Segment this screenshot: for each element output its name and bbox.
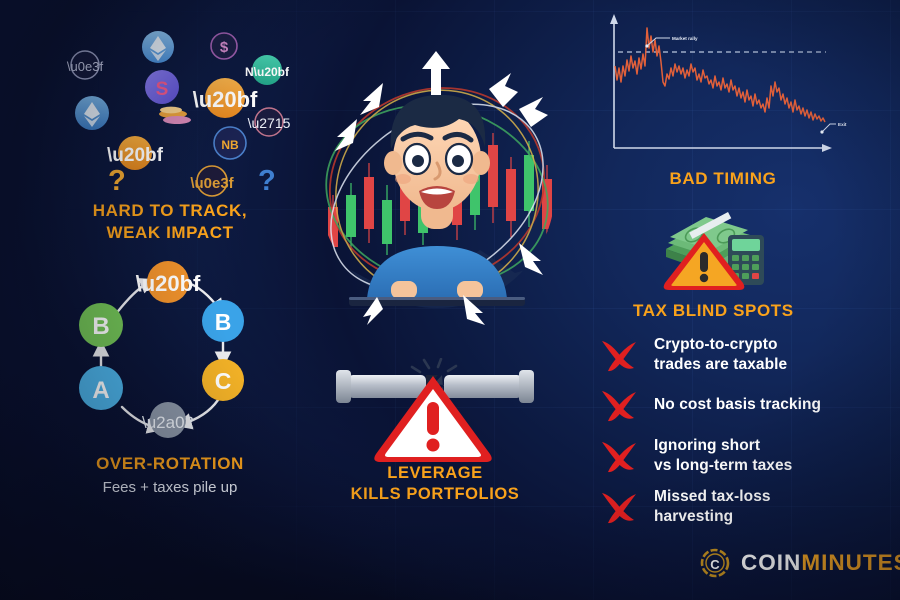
vignette-overlay (0, 0, 900, 600)
infographic-canvas: $ N\u20bf \u0e3f S \u20bf (0, 0, 900, 600)
